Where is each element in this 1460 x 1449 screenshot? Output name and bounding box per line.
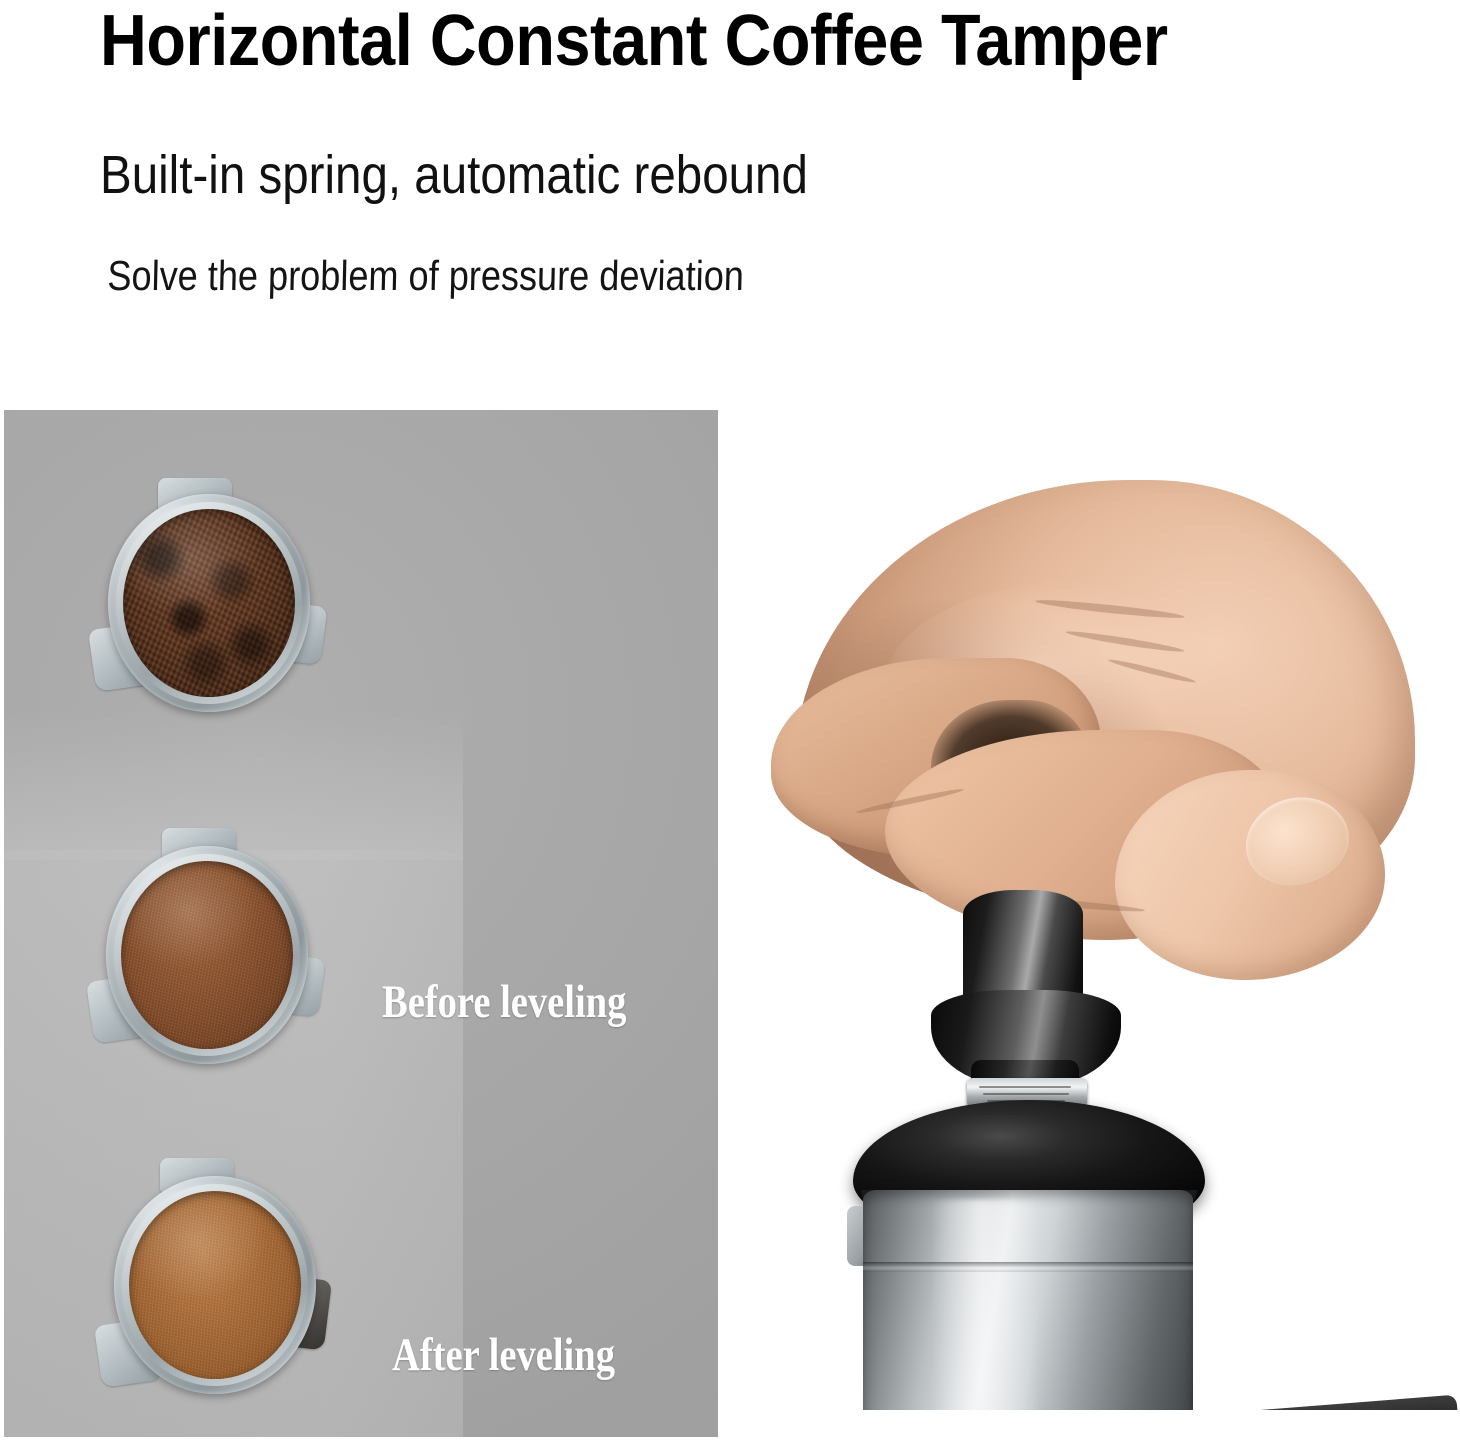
- coffee-bed-leveled: [121, 861, 293, 1049]
- heading-block: Horizontal Constant Coffee Tamper Built-…: [0, 0, 1460, 400]
- thread-groove: [979, 1086, 1071, 1088]
- coffee-bed-sheen: [121, 861, 293, 1049]
- coffee-bed-sheen: [123, 509, 295, 697]
- portafilter-highlight: [931, 1200, 1041, 1410]
- portafilter-before-leveling: [96, 476, 322, 730]
- coffee-bed-rough: [123, 509, 295, 697]
- page-tagline: Solve the problem of pressure deviation: [107, 252, 745, 300]
- portafilter-seam: [863, 1262, 1193, 1272]
- label-after-leveling: After leveling: [392, 1328, 615, 1382]
- page-title: Horizontal Constant Coffee Tamper: [100, 2, 1168, 80]
- comparison-panel: Before leveling After leveling After com…: [4, 410, 718, 1437]
- coffee-bed-compacted: [129, 1191, 301, 1379]
- coffee-bed-sheen: [129, 1191, 301, 1379]
- thumb: [1115, 770, 1385, 980]
- label-before-leveling: Before leveling: [382, 975, 626, 1029]
- thread-groove: [983, 1093, 1069, 1095]
- product-photo: [735, 400, 1460, 1410]
- page-subtitle: Built-in spring, automatic rebound: [100, 145, 808, 205]
- portafilter-after-compaction: [102, 1158, 328, 1412]
- portafilter-after-leveling: [94, 828, 320, 1082]
